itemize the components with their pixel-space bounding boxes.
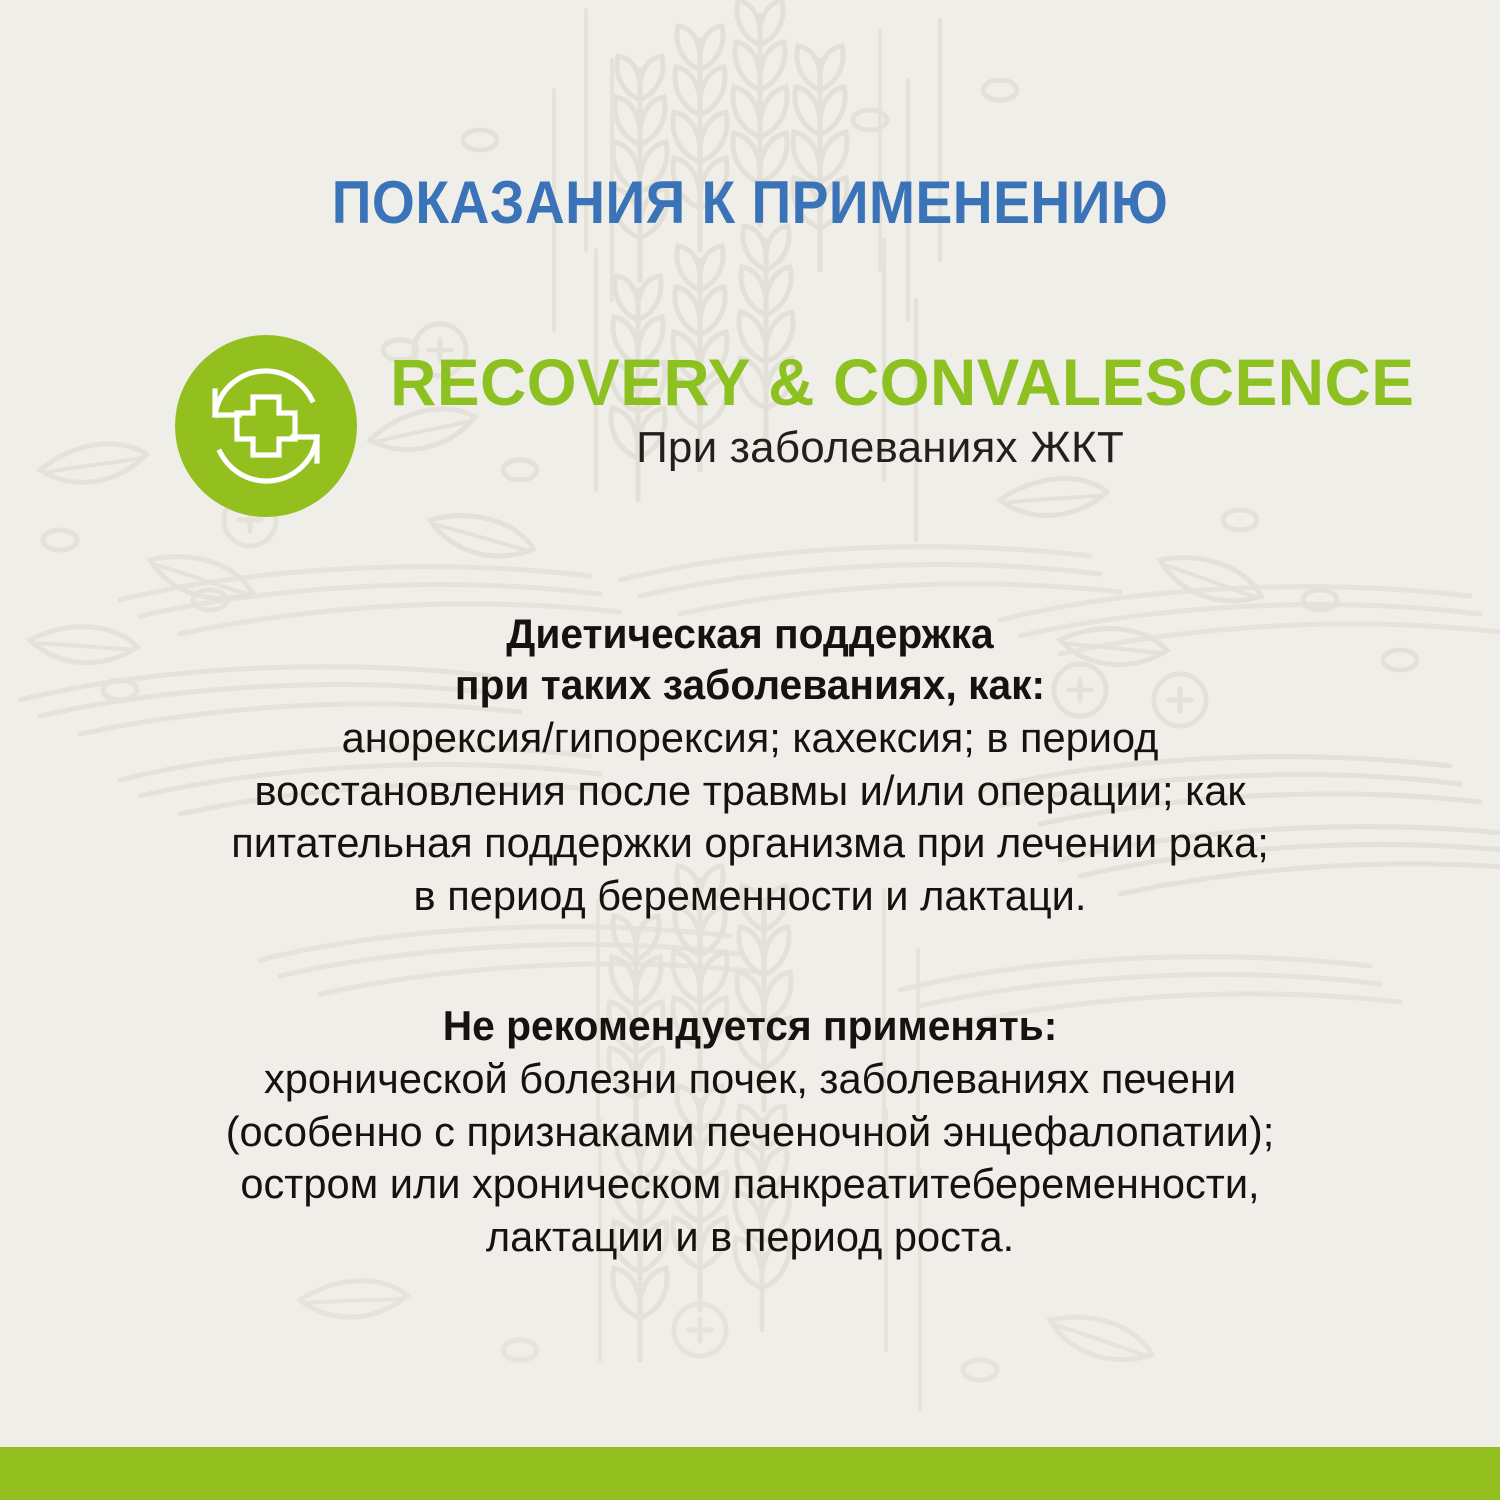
bottom-accent-bar <box>0 1447 1500 1500</box>
contraindications-body-line: (особенно с признаками печеночной энцефа… <box>116 1106 1383 1159</box>
contraindications-body-line: остром или хроническом панкреатитебереме… <box>116 1158 1383 1211</box>
poster-content: ПОКАЗАНИЯ К ПРИМЕНЕНИЮ <box>0 0 1500 1500</box>
indications-body-line: в период беременности и лактаци. <box>116 870 1383 923</box>
indications-body: анорексия/гипорексия; кахексия; в период… <box>116 712 1383 922</box>
contraindications-heading-line: Не рекомендуется применять: <box>129 1000 1371 1051</box>
recovery-cross-arrows-icon <box>175 335 357 517</box>
indications-heading-line: Диетическая поддержка <box>129 608 1371 659</box>
contraindications-body-line: лактации и в период роста. <box>116 1211 1383 1264</box>
indications-body-line: восстановления после травмы и/или операц… <box>116 765 1383 818</box>
header-row: RECOVERY & CONVALESCENCE При заболевания… <box>0 335 1500 520</box>
indications-heading-line: при таких заболеваниях, как: <box>129 659 1371 710</box>
indications-body-line: питательная поддержки организма при лече… <box>116 817 1383 870</box>
header-text-group: RECOVERY & CONVALESCENCE При заболевания… <box>375 349 1385 473</box>
poster-root: ПОКАЗАНИЯ К ПРИМЕНЕНИЮ <box>0 0 1500 1500</box>
contraindications-body-line: хронической болезни почек, заболеваниях … <box>116 1053 1383 1106</box>
section-subheading: При заболеваниях ЖКТ <box>375 424 1385 472</box>
indications-block: Диетическая поддержка при таких заболева… <box>110 608 1390 922</box>
indications-heading: Диетическая поддержка при таких заболева… <box>129 608 1371 710</box>
page-title: ПОКАЗАНИЯ К ПРИМЕНЕНИЮ <box>60 168 1440 237</box>
section-heading: RECOVERY & CONVALESCENCE <box>390 349 1370 416</box>
contraindications-body: хронической болезни почек, заболеваниях … <box>116 1053 1383 1263</box>
indications-body-line: анорексия/гипорексия; кахексия; в период <box>116 712 1383 765</box>
contraindications-heading: Не рекомендуется применять: <box>129 1000 1371 1051</box>
contraindications-block: Не рекомендуется применять: хронической … <box>110 1000 1390 1263</box>
